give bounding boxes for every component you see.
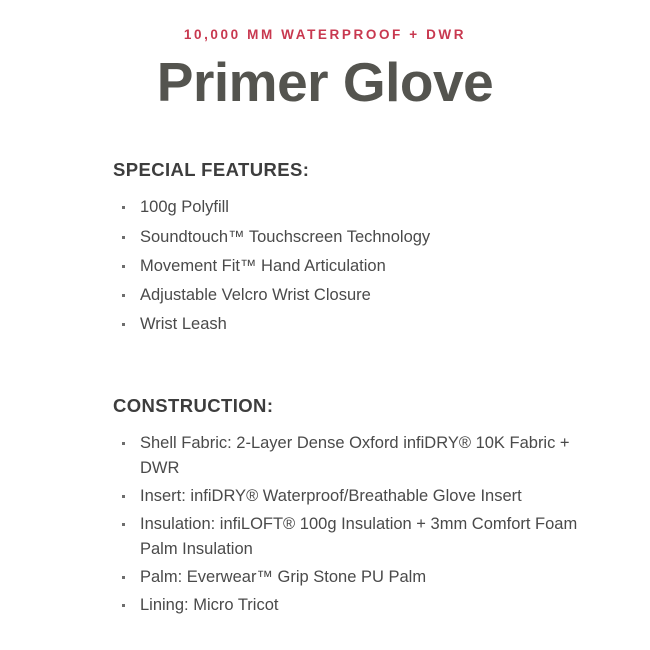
- list-item: Soundtouch™ Touchscreen Technology: [113, 225, 590, 250]
- list-item: 100g Polyfill: [113, 195, 590, 220]
- list-item: Insulation: infiLOFT® 100g Insulation + …: [113, 512, 590, 562]
- product-title: Primer Glove: [0, 54, 650, 112]
- list-item: Insert: infiDRY® Waterproof/Breathable G…: [113, 484, 590, 509]
- product-description-page: 10,000 MM Waterproof + DWR Primer Glove …: [0, 0, 650, 650]
- section-construction: Construction: Shell Fabric: 2-Layer Dens…: [113, 395, 590, 619]
- construction-list: Shell Fabric: 2-Layer Dense Oxford infiD…: [113, 431, 590, 619]
- list-item: Movement Fit™ Hand Articulation: [113, 254, 590, 279]
- list-item: Adjustable Velcro Wrist Closure: [113, 283, 590, 308]
- list-item: Shell Fabric: 2-Layer Dense Oxford infiD…: [113, 431, 590, 481]
- special-features-list: 100g Polyfill Soundtouch™ Touchscreen Te…: [113, 195, 590, 336]
- list-item: Wrist Leash: [113, 312, 590, 337]
- section-heading-special-features: Special Features:: [113, 159, 590, 181]
- product-tagline: 10,000 MM Waterproof + DWR: [0, 28, 650, 42]
- product-header: 10,000 MM Waterproof + DWR Primer Glove: [0, 0, 650, 111]
- section-special-features: Special Features: 100g Polyfill Soundtou…: [113, 159, 590, 337]
- list-item: Palm: Everwear™ Grip Stone PU Palm: [113, 565, 590, 590]
- section-heading-construction: Construction:: [113, 395, 590, 417]
- list-item: Lining: Micro Tricot: [113, 593, 590, 618]
- product-details: Special Features: 100g Polyfill Soundtou…: [0, 159, 650, 618]
